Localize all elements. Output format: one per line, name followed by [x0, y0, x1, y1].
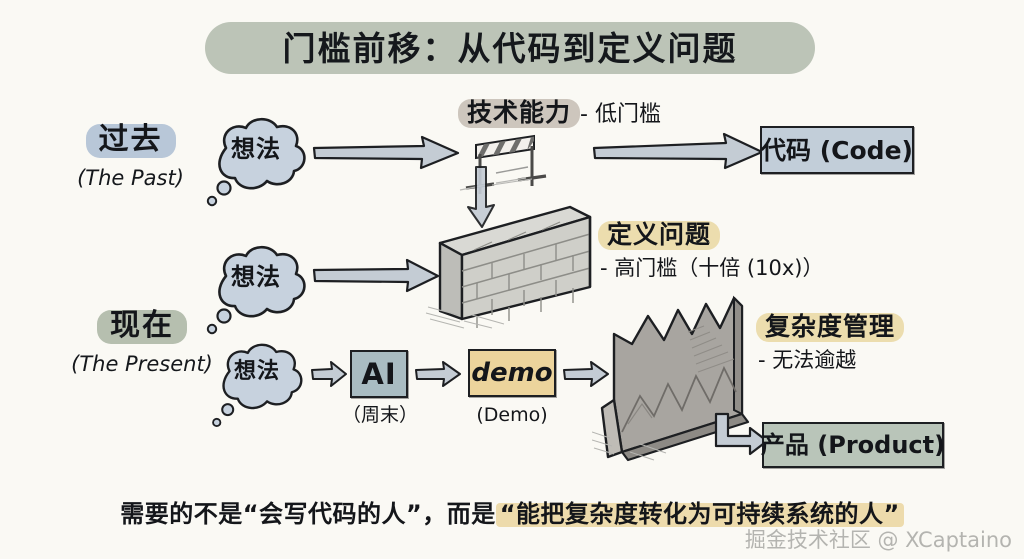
- tech-ability-highlight-wrap: 技术能力: [458, 98, 580, 129]
- caption-part1: 需要的不是“会写代码的人”，而是: [120, 500, 496, 528]
- arrow-right-icon: [414, 360, 462, 393]
- annotation-complexity: 复杂度管理 - 无法逾越: [756, 312, 904, 371]
- output-box-code[interactable]: 代码 (Code): [760, 126, 914, 174]
- step-box-demo-label: demo: [471, 360, 552, 386]
- annotation-define-problem: 定义问题 - 高门槛（十倍 (10x)）: [598, 220, 823, 279]
- define-problem-text: 定义问题: [607, 220, 711, 249]
- thought-cloud-label: 想法: [197, 110, 315, 188]
- arrow-right-icon: [592, 132, 764, 175]
- output-box-product-label: 产品 (Product): [761, 433, 945, 457]
- define-problem-sub: - 高门槛（十倍 (10x)）: [600, 258, 823, 279]
- thought-cloud-label: 想法: [203, 336, 311, 408]
- era-present-cn: 现在: [110, 308, 174, 343]
- title-text: 门槛前移：从代码到定义问题: [205, 22, 815, 74]
- thought-cloud-icon: 想法: [197, 240, 315, 318]
- tech-ability-text: 技术能力: [467, 98, 571, 127]
- annotation-tech-ability: 技术能力 - 低门槛: [458, 98, 661, 129]
- era-past-en: (The Past): [58, 168, 203, 189]
- brick-wall-icon: [420, 195, 610, 335]
- page-title: 门槛前移：从代码到定义问题: [205, 22, 815, 74]
- watermark: 掘金技术社区 @ XCaptaino: [745, 530, 1012, 551]
- step-box-demo[interactable]: demo: [468, 349, 556, 397]
- era-past-cn: 过去: [99, 122, 163, 157]
- arrow-right-icon: [310, 360, 348, 393]
- era-label-past: 过去 (The Past): [58, 122, 203, 189]
- era-present-cn-wrap: 现在: [97, 308, 187, 346]
- thought-cloud-icon: 想法: [203, 338, 311, 410]
- step-box-ai-sub: （周末）: [340, 406, 420, 425]
- complexity-highlight-wrap: 复杂度管理: [756, 312, 904, 343]
- caption: 需要的不是“会写代码的人”，而是“能把复杂度转化为可持续系统的人”: [0, 501, 1024, 529]
- thought-cloud-label: 想法: [197, 238, 315, 316]
- era-past-cn-wrap: 过去: [86, 122, 176, 160]
- output-box-product[interactable]: 产品 (Product): [762, 422, 944, 468]
- step-box-demo-sub: (Demo): [466, 406, 558, 425]
- output-box-code-label: 代码 (Code): [761, 138, 913, 163]
- define-problem-highlight-wrap: 定义问题: [598, 220, 720, 251]
- caption-part2: “能把复杂度转化为可持续系统的人”: [500, 500, 900, 528]
- arrow-right-icon: [312, 134, 460, 177]
- step-box-ai-label: AI: [361, 360, 396, 389]
- complexity-sub: - 无法逾越: [758, 350, 904, 371]
- diagram-canvas: 门槛前移：从代码到定义问题 过去 (The Past) 想法 技术能力 - 低门…: [0, 0, 1024, 559]
- tech-ability-tail: - 低门槛: [580, 102, 661, 127]
- step-box-ai[interactable]: AI: [350, 350, 408, 398]
- thought-cloud-icon: 想法: [197, 112, 315, 190]
- caption-part2-wrap: “能把复杂度转化为可持续系统的人”: [496, 501, 904, 529]
- complexity-text: 复杂度管理: [765, 312, 895, 341]
